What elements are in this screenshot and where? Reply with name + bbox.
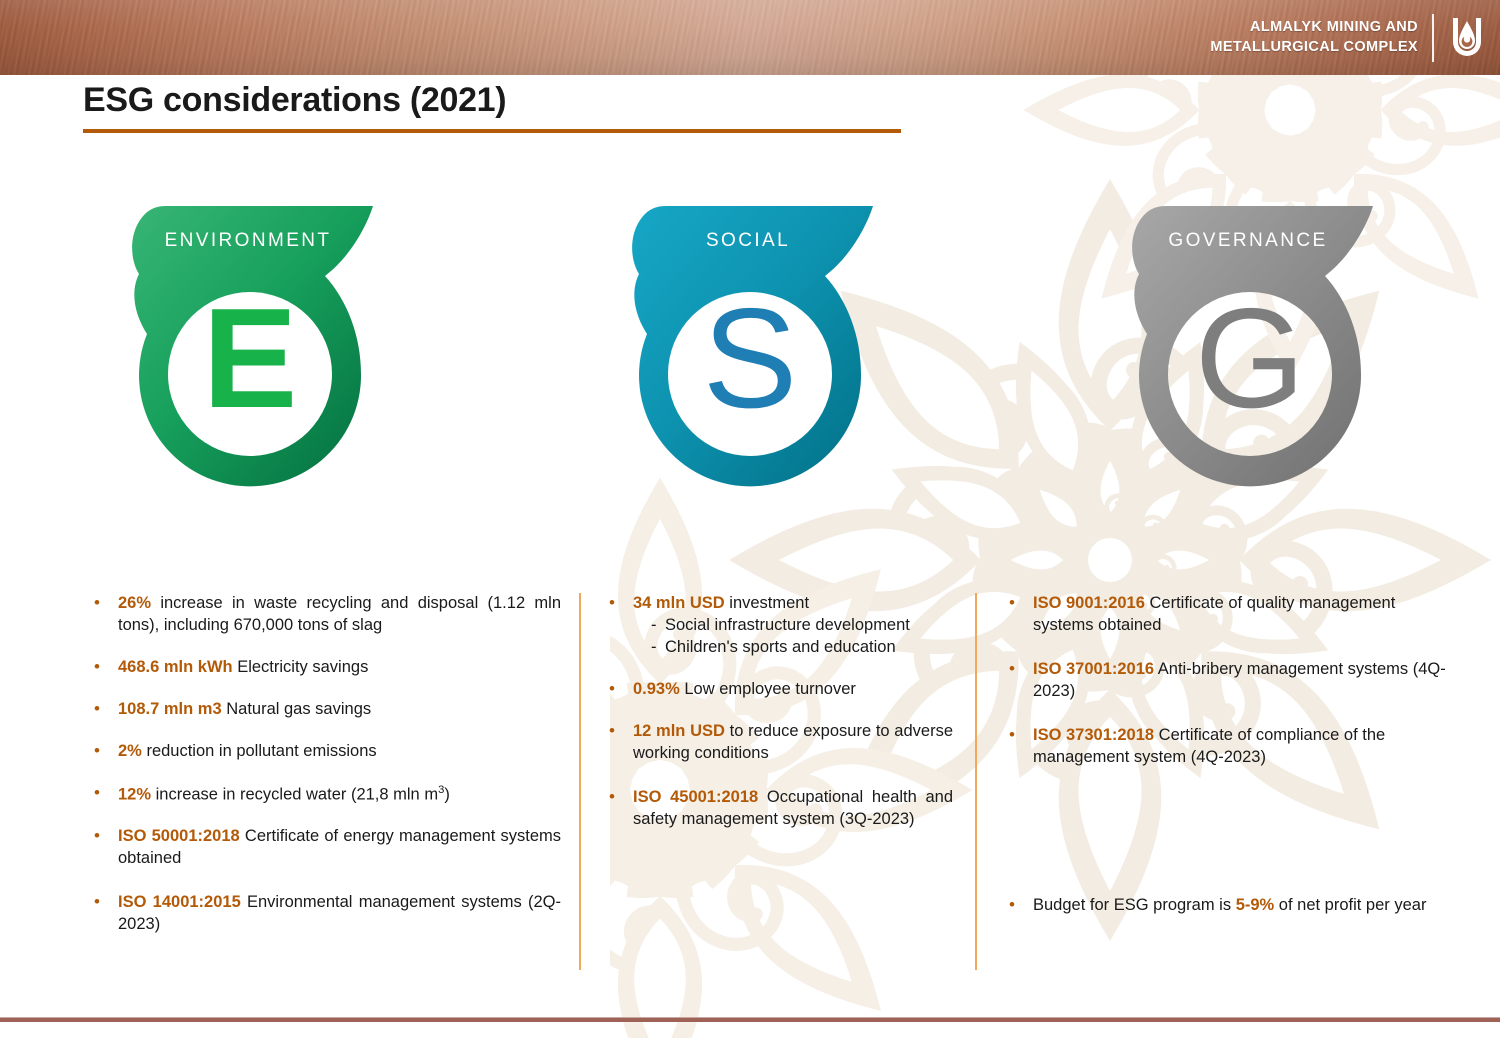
slide-root: ALMALYK MINING AND METALLURGICAL COMPLEX… bbox=[0, 0, 1500, 1038]
badge-letter-environment: E bbox=[111, 288, 389, 430]
esg-content-columns: 26% increase in waste recycling and disp… bbox=[0, 586, 1500, 986]
governance-column: ISO 9001:2016 Certificate of quality man… bbox=[975, 586, 1500, 986]
highlight: 5-9% bbox=[1236, 896, 1275, 914]
highlight: 0.93% bbox=[633, 680, 680, 698]
column-divider-1 bbox=[579, 593, 581, 970]
badge-cell-social: SOCIAL S bbox=[500, 196, 1000, 516]
list-item: 12 mln USD to reduce exposure to adverse… bbox=[603, 721, 953, 765]
brand-line-1: ALMALYK MINING AND bbox=[1210, 18, 1418, 37]
list-item: 12% increase in recycled water (21,8 mln… bbox=[88, 783, 561, 806]
highlight: 34 mln USD bbox=[633, 594, 725, 612]
column-divider-2 bbox=[975, 593, 977, 970]
list-item: 108.7 mln m3 Natural gas savings bbox=[88, 699, 561, 721]
badge-cell-environment: ENVIRONMENT E bbox=[0, 196, 500, 516]
highlight: 12% bbox=[118, 785, 151, 803]
highlight: ISO 50001:2018 bbox=[118, 827, 240, 845]
footer-rule-highlight bbox=[0, 1017, 1500, 1018]
bullet-text: reduction in pollutant emissions bbox=[142, 742, 377, 760]
list-item: ISO 9001:2016 Certificate of quality man… bbox=[1003, 593, 1458, 637]
sub-list-item: Children's sports and education bbox=[651, 637, 953, 659]
list-item: ISO 45001:2018 Occupational health and s… bbox=[603, 787, 953, 831]
social-column: 34 mln USD investment Social infrastruct… bbox=[579, 586, 975, 986]
highlight: ISO 14001:2015 bbox=[118, 893, 241, 911]
highlight: ISO 45001:2018 bbox=[633, 788, 758, 806]
sub-list-item: Social infrastructure development bbox=[651, 615, 953, 637]
badge-cell-governance: GOVERNANCE G bbox=[1000, 196, 1500, 516]
brand-name: ALMALYK MINING AND METALLURGICAL COMPLEX bbox=[1210, 18, 1432, 56]
bullet-text: investment bbox=[725, 594, 809, 612]
list-item: ISO 37001:2016 Anti-bribery management s… bbox=[1003, 659, 1458, 703]
list-item: ISO 50001:2018 Certificate of energy man… bbox=[88, 826, 561, 870]
highlight: 468.6 mln kWh bbox=[118, 658, 233, 676]
highlight: ISO 37001:2016 bbox=[1033, 660, 1154, 678]
highlight: 26% bbox=[118, 594, 151, 612]
highlight: ISO 37301:2018 bbox=[1033, 726, 1154, 744]
title-underline bbox=[83, 129, 901, 133]
bullet-text: increase in waste recycling and disposal… bbox=[118, 594, 561, 634]
social-sub-list: Social infrastructure development Childr… bbox=[651, 615, 953, 659]
list-item: 0.93% Low employee turnover bbox=[603, 679, 953, 701]
bullet-text: Electricity savings bbox=[233, 658, 369, 676]
bullet-text: increase in recycled water (21,8 mln m bbox=[151, 785, 438, 803]
bullet-text: Low employee turnover bbox=[680, 680, 856, 698]
governance-bullet-list: ISO 9001:2016 Certificate of quality man… bbox=[1003, 593, 1458, 917]
environment-column: 26% increase in waste recycling and disp… bbox=[0, 586, 579, 986]
page-title-wrap: ESG considerations (2021) bbox=[83, 80, 901, 133]
badge-letter-governance: G bbox=[1111, 288, 1389, 430]
list-item: 34 mln USD investment Social infrastruct… bbox=[603, 593, 953, 659]
list-item: 2% reduction in pollutant emissions bbox=[88, 741, 561, 763]
esg-social-badge-icon: SOCIAL S bbox=[611, 196, 889, 512]
bullet-text: Natural gas savings bbox=[222, 700, 372, 718]
badge-letter-social: S bbox=[611, 288, 889, 430]
social-bullet-list: 34 mln USD investment Social infrastruct… bbox=[603, 593, 953, 831]
list-item: ISO 37301:2018 Certificate of compliance… bbox=[1003, 725, 1458, 769]
bullet-text: Budget for ESG program is bbox=[1033, 896, 1236, 914]
badge-label-environment: ENVIRONMENT bbox=[111, 230, 389, 252]
list-item: 468.6 mln kWh Electricity savings bbox=[88, 657, 561, 679]
list-item: 26% increase in waste recycling and disp… bbox=[88, 593, 561, 637]
esg-environment-badge-icon: ENVIRONMENT E bbox=[111, 196, 389, 512]
esg-governance-badge-icon: GOVERNANCE G bbox=[1111, 196, 1389, 512]
flame-droplet-icon bbox=[1448, 12, 1486, 64]
highlight: 2% bbox=[118, 742, 142, 760]
highlight: 108.7 mln m3 bbox=[118, 700, 222, 718]
bullet-text-tail: of net profit per year bbox=[1274, 896, 1426, 914]
highlight: ISO 9001:2016 bbox=[1033, 594, 1145, 612]
badge-label-governance: GOVERNANCE bbox=[1111, 230, 1389, 252]
badge-label-social: SOCIAL bbox=[611, 230, 889, 252]
brand-line-2: METALLURGICAL COMPLEX bbox=[1210, 38, 1418, 57]
page-title: ESG considerations (2021) bbox=[83, 80, 901, 120]
brand-separator bbox=[1432, 14, 1434, 62]
list-item: ISO 14001:2015 Environmental management … bbox=[88, 892, 561, 936]
esg-badges-row: ENVIRONMENT E bbox=[0, 196, 1500, 516]
list-item: Budget for ESG program is 5-9% of net pr… bbox=[1003, 895, 1458, 917]
environment-bullet-list: 26% increase in waste recycling and disp… bbox=[88, 593, 561, 936]
brand-lockup: ALMALYK MINING AND METALLURGICAL COMPLEX bbox=[1210, 0, 1486, 75]
highlight: 12 mln USD bbox=[633, 722, 725, 740]
bullet-text-tail: ) bbox=[444, 785, 450, 803]
